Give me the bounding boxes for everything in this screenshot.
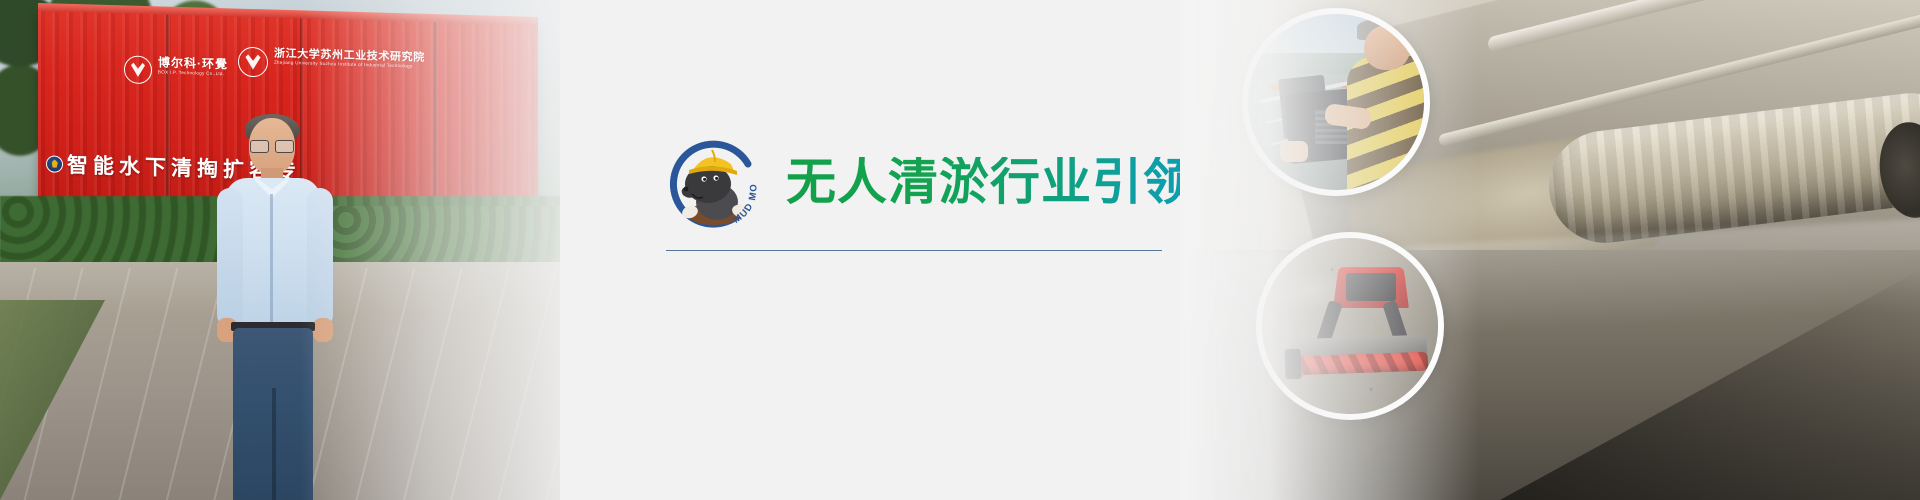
- brand-roundel-secondary: [238, 47, 268, 78]
- center-content: MUD MOLE 无人清淤行业引领者: [660, 0, 1260, 500]
- shield-icon: [46, 155, 63, 172]
- glasses-icon: [250, 140, 294, 151]
- right-arm: [307, 188, 333, 328]
- mud-mole-logo: MUD MOLE: [660, 128, 768, 236]
- trouser-seam: [272, 388, 276, 500]
- left-arm: [217, 188, 243, 328]
- right-photo-fade: [1180, 0, 1480, 500]
- right-photo-collage: [1180, 0, 1920, 500]
- brand-roundel-primary: [124, 55, 152, 84]
- divider: [666, 250, 1162, 251]
- shirt-placket: [270, 194, 273, 324]
- person-figure: [215, 118, 335, 500]
- left-photo: 博尔科·环覺 BOX I.P. Technology Co.,Ltd. 浙江大学…: [0, 0, 560, 500]
- right-hand: [313, 318, 333, 342]
- headline: 无人清淤行业引领者: [786, 157, 1245, 207]
- brand-text-primary: 博尔科·环覺 BOX I.P. Technology Co.,Ltd.: [158, 56, 228, 77]
- hero-banner: 博尔科·环覺 BOX I.P. Technology Co.,Ltd. 浙江大学…: [0, 0, 1920, 500]
